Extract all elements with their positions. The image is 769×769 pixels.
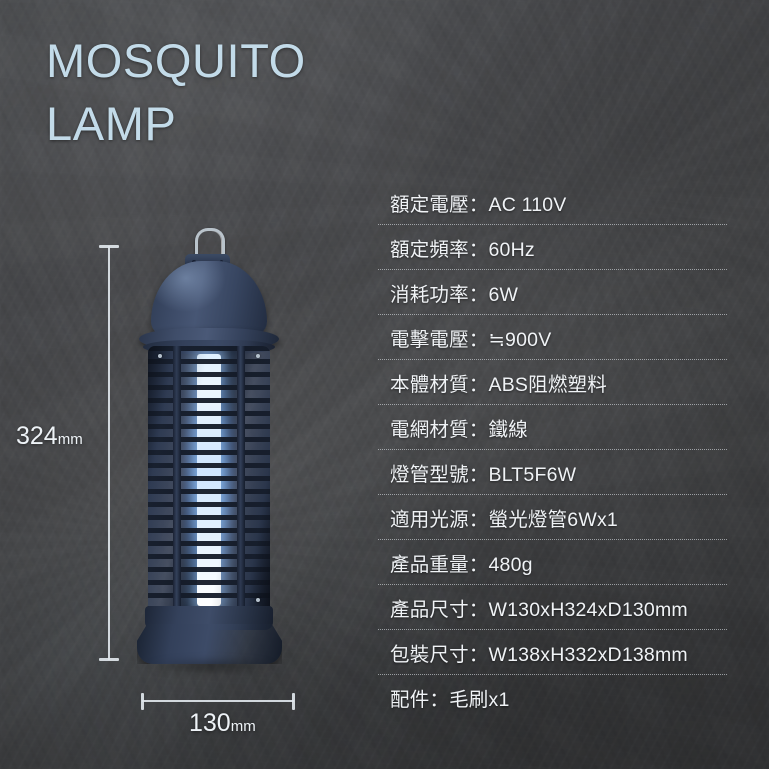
spec-text: 電網材質：鐵線 [378,413,528,442]
width-unit: mm [231,718,256,735]
spec-text: 燈管型號：BLT5F6W [378,458,576,487]
spec-text: 產品尺寸：W130xH324xD130mm [378,593,688,622]
spec-text: 包裝尺寸：W138xH332xD138mm [378,638,688,667]
height-dimension-line [108,246,110,660]
spec-text: 產品重量：480g [378,548,533,577]
height-dimension-cap-top [99,245,119,248]
screw-top-right [256,354,260,358]
spec-text: 消耗功率：6W [378,278,518,307]
page-title: MOSQUITO LAMP [46,30,416,155]
spec-text: 電擊電壓：≒900V [378,323,551,352]
height-dimension-cap-bottom [99,658,119,661]
specification-table: 額定電壓：AC 110V 額定頻率：60Hz 消耗功率：6W 電擊電壓：≒900… [378,180,727,720]
spec-text: 額定電壓：AC 110V [378,188,567,217]
spec-text: 配件：毛刷x1 [378,683,510,712]
spec-row-product-size: 產品尺寸：W130xH324xD130mm [378,585,727,630]
spec-row-light-source: 適用光源：螢光燈管6Wx1 [378,495,727,540]
spec-row-lamp-model: 燈管型號：BLT5F6W [378,450,727,495]
spec-row-rated-voltage: 額定電壓：AC 110V [378,180,727,225]
width-dimension-cap-left [141,693,144,710]
lamp-body-shading [148,346,270,614]
spec-row-power-consumption: 消耗功率：6W [378,270,727,315]
lamp-cage-body [148,346,270,614]
height-dimension-label: 324mm [16,422,83,451]
mosquito-lamp-product-image [137,228,297,670]
product-infographic: MOSQUITO LAMP 324mm [0,0,769,769]
lamp-cage-shell [148,346,270,614]
spec-row-shock-voltage: 電擊電壓：≒900V [378,315,727,360]
spec-row-package-size: 包裝尺寸：W138xH332xD138mm [378,630,727,675]
width-value: 130 [189,709,231,737]
spec-row-product-weight: 產品重量：480g [378,540,727,585]
screw-bottom-right [256,598,260,602]
spec-text: 適用光源：螢光燈管6Wx1 [378,503,618,532]
width-dimension-cap-right [292,693,295,710]
width-dimension-line [142,700,294,702]
height-value: 324 [16,422,58,450]
lamp-ground-shadow [123,656,301,676]
spec-row-grid-material: 電網材質：鐵線 [378,405,727,450]
spec-text: 額定頻率：60Hz [378,233,535,262]
height-unit: mm [58,431,83,448]
spec-row-accessories: 配件：毛刷x1 [378,675,727,720]
spec-row-rated-frequency: 額定頻率：60Hz [378,225,727,270]
screw-top-left [158,354,162,358]
spec-text: 本體材質：ABS阻燃塑料 [378,368,607,397]
spec-row-body-material: 本體材質：ABS阻燃塑料 [378,360,727,405]
width-dimension-label: 130mm [189,709,256,738]
